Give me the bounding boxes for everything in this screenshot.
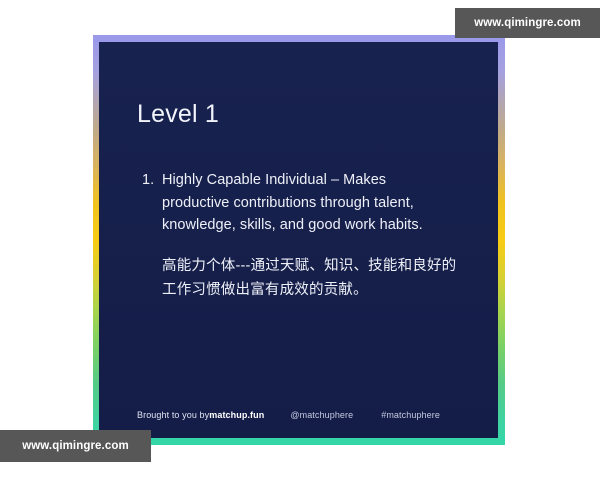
watermark-bottom: www.qimingre.com: [0, 430, 151, 462]
footer-hashtag[interactable]: #matchuphere: [381, 410, 440, 420]
list-item: 1. Highly Capable Individual – Makes pro…: [142, 169, 464, 302]
list-item-text-english: Highly Capable Individual – Makes produc…: [162, 169, 424, 237]
footer-credit-label: Brought to you by: [137, 410, 209, 420]
footer-brand-name[interactable]: matchup.fun: [209, 410, 264, 420]
page-title: Level 1: [137, 100, 464, 129]
screenshot-canvas: Level 1 1. Highly Capable Individual – M…: [0, 0, 600, 480]
content-list: 1. Highly Capable Individual – Makes pro…: [142, 169, 464, 302]
footer-social-handle[interactable]: @matchuphere: [290, 410, 353, 420]
slide-card-frame: Level 1 1. Highly Capable Individual – M…: [93, 35, 505, 445]
slide-card: Level 1 1. Highly Capable Individual – M…: [99, 42, 498, 438]
watermark-top: www.qimingre.com: [455, 8, 600, 38]
slide-footer: Brought to you by matchup.fun @matchuphe…: [137, 410, 464, 420]
list-item-marker: 1.: [142, 169, 154, 192]
list-item-text-chinese: 高能力个体---通过天赋、知识、技能和良好的工作习惯做出富有成效的贡献。: [162, 254, 462, 302]
